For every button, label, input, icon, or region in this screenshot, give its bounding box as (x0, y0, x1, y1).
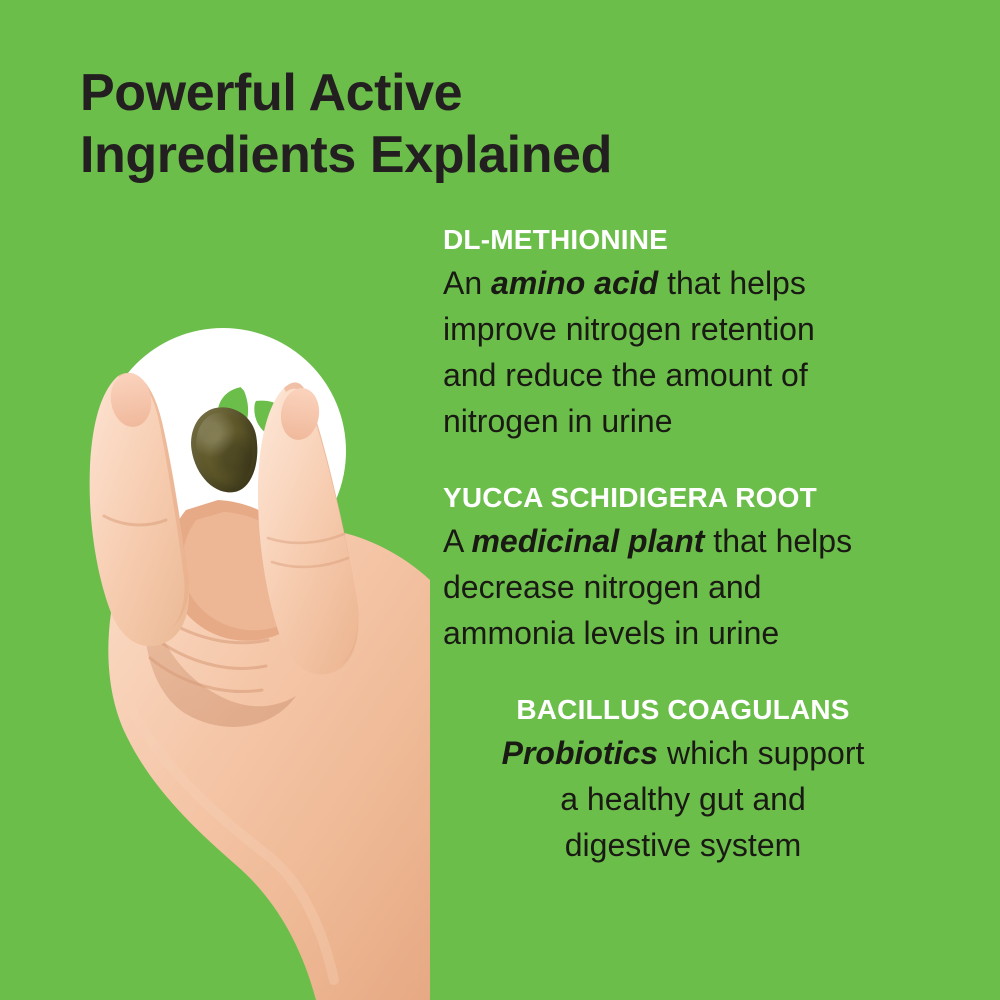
text-post: which support (658, 735, 864, 771)
ingredient-name: BACILLUS COAGULANS (443, 692, 923, 728)
text-post: that helps (658, 265, 806, 301)
hand-holding-chew (0, 280, 430, 1000)
description-line: ammonia levels in urine (443, 610, 923, 656)
description-line: nitrogen in urine (443, 398, 923, 444)
ingredient-list: DL-METHIONINE An amino acid that helps i… (443, 222, 923, 868)
emphasis-text: medicinal plant (471, 523, 704, 559)
page-title-line-1: Powerful Active (80, 62, 840, 124)
ingredient-item-yucca-schidigera-root: YUCCA SCHIDIGERA ROOT A medicinal plant … (443, 480, 923, 656)
ingredient-description: A medicinal plant that helps decrease ni… (443, 518, 923, 656)
ingredient-description: An amino acid that helps improve nitroge… (443, 260, 923, 444)
description-line: An amino acid that helps (443, 260, 923, 306)
infographic-canvas: Powerful Active Ingredients Explained (0, 0, 1000, 1000)
product-visual (0, 280, 430, 1000)
description-line: Probiotics which support (443, 730, 923, 776)
ingredient-item-dl-methionine: DL-METHIONINE An amino acid that helps i… (443, 222, 923, 444)
description-line: a healthy gut and (443, 776, 923, 822)
ingredient-item-bacillus-coagulans: BACILLUS COAGULANS Probiotics which supp… (443, 692, 923, 868)
description-line: improve nitrogen retention (443, 306, 923, 352)
page-title-line-2: Ingredients Explained (80, 124, 840, 186)
text-pre: An (443, 265, 491, 301)
emphasis-text: Probiotics (502, 735, 658, 771)
description-line: A medicinal plant that helps (443, 518, 923, 564)
ingredient-name: YUCCA SCHIDIGERA ROOT (443, 480, 923, 516)
description-line: digestive system (443, 822, 923, 868)
ingredient-name: DL-METHIONINE (443, 222, 923, 258)
page-title: Powerful Active Ingredients Explained (80, 62, 840, 186)
text-pre: A (443, 523, 471, 559)
description-line: decrease nitrogen and (443, 564, 923, 610)
ingredient-description: Probiotics which support a healthy gut a… (443, 730, 923, 868)
text-post: that helps (704, 523, 852, 559)
description-line: and reduce the amount of (443, 352, 923, 398)
emphasis-text: amino acid (491, 265, 658, 301)
